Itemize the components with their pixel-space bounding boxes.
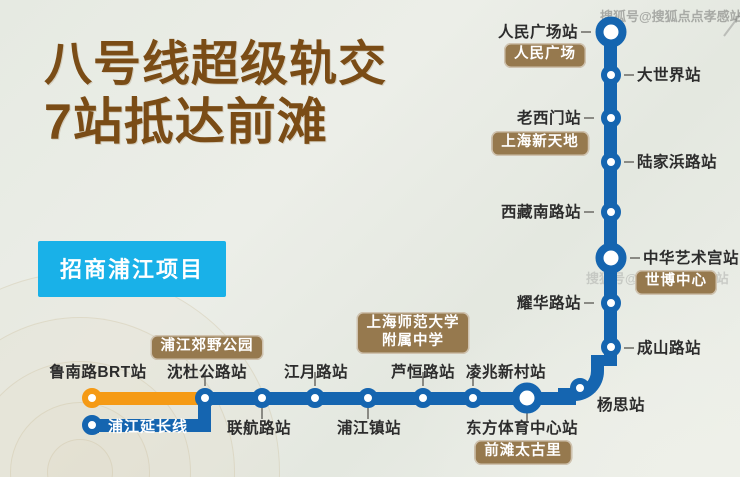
poi-tag-pujiang-jiaoye-gongyuan: 浦江郊野公园	[151, 335, 264, 360]
station-label-chengshan-lu: 成山路站	[637, 336, 701, 358]
station-node-xizang-nan-lu[interactable]	[601, 202, 621, 222]
poi-tag-line-1: 上海师范大学	[367, 315, 460, 333]
station-node-laoximen[interactable]	[601, 108, 621, 128]
station-label-lingzhao-xincun: 凌兆新村站	[466, 360, 546, 382]
poi-tag-shibo-zhongxin: 世博中心	[635, 270, 717, 295]
station-node-lingzhao-xincun[interactable]	[463, 388, 483, 408]
project-cta-chip[interactable]: 招商浦江项目	[38, 241, 226, 297]
tick-dashijie	[624, 74, 634, 76]
poster-canvas: 八号线超级轨交 7站抵达前滩 招商浦江项目 搜狐号@搜狐点点孝感站 搜狐号@搜狐…	[0, 0, 740, 477]
station-label-dongfang-tiyu-zhongxin: 东方体育中心站	[466, 416, 578, 438]
station-node-lunan-lu-brt[interactable]	[82, 388, 102, 408]
tick-yaohua	[584, 302, 594, 304]
headline-block: 八号线超级轨交 7站抵达前滩	[44, 40, 464, 148]
station-node-lujiabang-lu[interactable]	[601, 152, 621, 172]
station-node-luheng-lu[interactable]	[413, 388, 433, 408]
station-label-lianhang-lu: 联航路站	[227, 416, 291, 438]
poi-tag-shanghai-xintiandi: 上海新天地	[491, 131, 589, 156]
station-node-pujiang-zhen[interactable]	[358, 388, 378, 408]
station-node-shendu-gonglu[interactable]	[195, 388, 215, 408]
station-node-dongfang-tiyu-zhongxin[interactable]	[512, 383, 543, 414]
tick-lujiabang	[624, 161, 634, 163]
poi-tag-renmin-guangchang: 人民广场	[504, 43, 586, 68]
poi-tag-qiantan-taikooli: 前滩太古里	[474, 440, 572, 465]
line-badge-pujiang-extension: 浦江延长线	[108, 416, 188, 437]
station-label-laoximen: 老西门站	[517, 106, 581, 128]
station-label-zhonghua-yishugong: 中华艺术宫站	[643, 246, 739, 268]
station-label-dashijie: 大世界站	[637, 63, 701, 85]
station-node-pujiang-extension-terminus[interactable]	[82, 415, 102, 435]
ring-inner	[47, 439, 113, 477]
station-node-yaohua-lu[interactable]	[601, 293, 621, 313]
station-label-yangsi: 杨思站	[597, 393, 645, 415]
tick-renmin	[581, 31, 591, 33]
station-label-yaohua-lu: 耀华路站	[517, 291, 581, 313]
poi-tag-shanghai-shifan-daxue: 上海师范大学 附属中学	[357, 312, 470, 354]
station-label-xizang-nan-lu: 西藏南路站	[501, 200, 581, 222]
station-node-renmin-guangchang[interactable]	[596, 17, 627, 48]
station-label-renmin-guangchang: 人民广场站	[498, 20, 578, 42]
station-node-jiangyue-lu[interactable]	[305, 388, 325, 408]
station-node-chengshan-lu[interactable]	[601, 337, 621, 357]
station-node-zhonghua-yishugong[interactable]	[596, 243, 627, 274]
station-node-yangsi[interactable]	[570, 378, 590, 398]
station-label-luheng-lu: 芦恒路站	[391, 360, 455, 382]
brt-line-segment	[86, 392, 206, 405]
station-node-dashijie[interactable]	[601, 65, 621, 85]
station-label-lujiabang-lu: 陆家浜路站	[637, 150, 717, 172]
tick-xizangnan	[584, 211, 594, 213]
tick-chengshan	[624, 347, 634, 349]
station-label-pujiang-zhen: 浦江镇站	[337, 416, 401, 438]
tick-zhonghua	[630, 257, 640, 259]
headline-line-2: 7站抵达前滩	[44, 96, 464, 148]
station-label-lunan-lu-brt: 鲁南路BRT站	[49, 360, 146, 382]
tick-laoximen	[584, 117, 594, 119]
headline-line-1: 八号线超级轨交	[44, 40, 464, 90]
station-label-shendu-gonglu: 沈杜公路站	[167, 360, 247, 382]
station-label-jiangyue-lu: 江月路站	[284, 360, 348, 382]
poi-tag-line-2: 附属中学	[367, 333, 460, 351]
ring-2	[10, 402, 150, 477]
station-node-lianhang-lu[interactable]	[252, 388, 272, 408]
